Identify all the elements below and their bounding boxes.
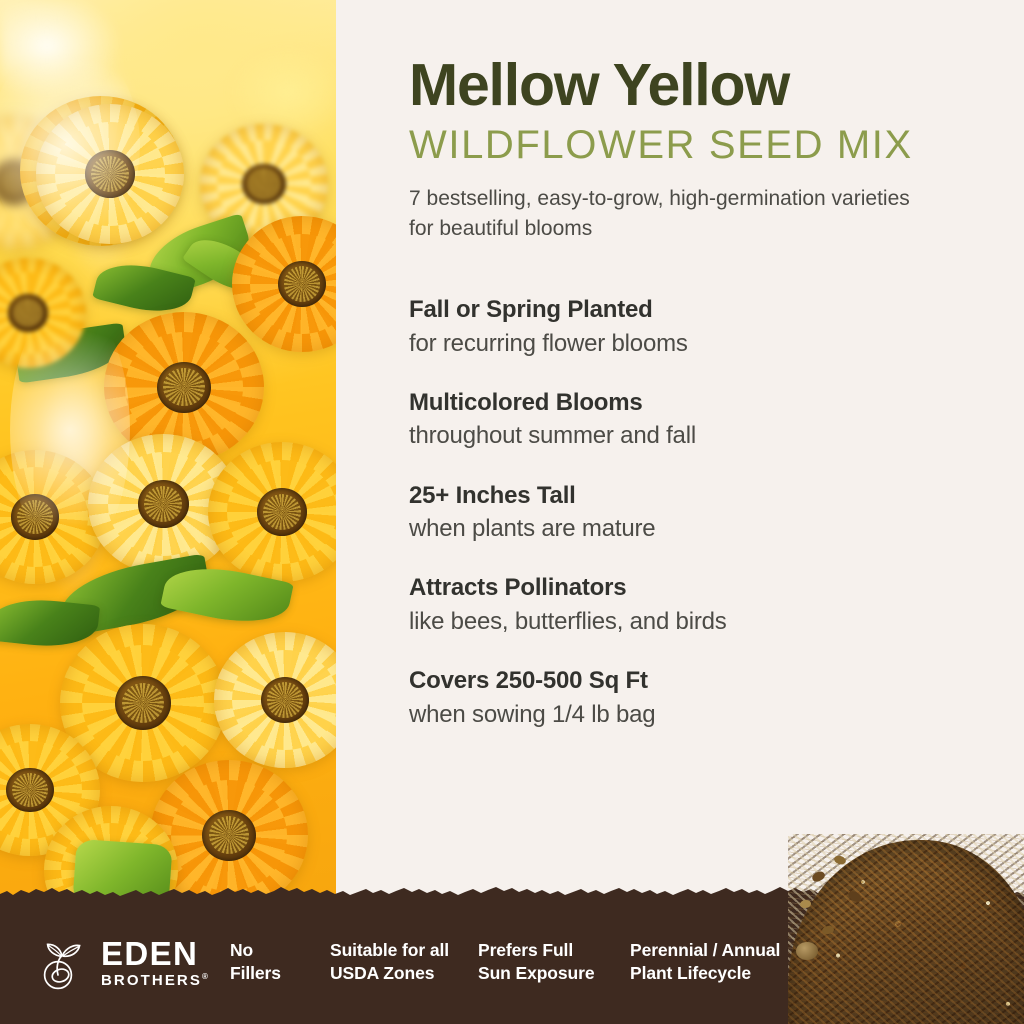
footer-badge-list: No Fillers Suitable for all USDA Zones P… xyxy=(230,939,810,985)
sprout-icon xyxy=(34,933,90,991)
badge-line-2: Sun Exposure xyxy=(478,962,630,985)
list-item: Covers 250-500 Sq Ft when sowing 1/4 lb … xyxy=(409,667,989,730)
list-item: 25+ Inches Tall when plants are mature xyxy=(409,482,989,545)
footer-bar: EDEN BROTHERS® No Fillers Suitable for a… xyxy=(0,900,1024,1024)
feature-subtitle: when sowing 1/4 lb bag xyxy=(409,699,989,730)
brand-subname: BROTHERS® xyxy=(101,973,208,988)
badge-line-1: Suitable for all xyxy=(330,939,478,962)
flower-blossom xyxy=(36,104,184,244)
content-panel: Mellow Yellow WILDFLOWER SEED MIX 7 best… xyxy=(336,0,1024,924)
status-badge: No Fillers xyxy=(230,939,330,985)
list-item: Attracts Pollinators like bees, butterfl… xyxy=(409,574,989,637)
status-badge: Suitable for all USDA Zones xyxy=(330,939,478,985)
brand-wordmark: EDEN BROTHERS® xyxy=(101,937,208,988)
feature-subtitle: for recurring flower blooms xyxy=(409,328,989,359)
badge-line-2: USDA Zones xyxy=(330,962,478,985)
feature-title: Attracts Pollinators xyxy=(409,574,989,602)
yellow-zinnia-flowers-photo xyxy=(0,0,336,924)
footer-content: EDEN BROTHERS® No Fillers Suitable for a… xyxy=(0,900,1024,1024)
eden-brothers-sprout-logo: EDEN BROTHERS® xyxy=(34,933,230,991)
status-badge: Prefers Full Sun Exposure xyxy=(478,939,630,985)
product-infographic: Mellow Yellow WILDFLOWER SEED MIX 7 best… xyxy=(0,0,1024,1024)
list-item: Fall or Spring Planted for recurring flo… xyxy=(409,296,989,359)
feature-subtitle: throughout summer and fall xyxy=(409,420,989,451)
feature-title: 25+ Inches Tall xyxy=(409,482,989,510)
feature-title: Multicolored Blooms xyxy=(409,389,989,417)
feature-title: Fall or Spring Planted xyxy=(409,296,989,324)
product-description: 7 bestselling, easy-to-grow, high-germin… xyxy=(409,184,939,244)
registered-trademark-icon: ® xyxy=(202,972,208,981)
badge-line-2: Plant Lifecycle xyxy=(630,962,810,985)
badge-line-1: Perennial / Annual xyxy=(630,939,810,962)
brand-subname-text: BROTHERS xyxy=(101,972,202,989)
product-subtitle: WILDFLOWER SEED MIX xyxy=(409,124,1009,166)
badge-line-1: No xyxy=(230,939,330,962)
feature-subtitle: like bees, butterflies, and birds xyxy=(409,606,989,637)
page-title: Mellow Yellow xyxy=(409,56,1009,115)
feature-subtitle: when plants are mature xyxy=(409,513,989,544)
badge-line-2: Fillers xyxy=(230,962,330,985)
brand-name: EDEN xyxy=(101,937,208,970)
feature-list: Fall or Spring Planted for recurring flo… xyxy=(409,296,989,730)
headline-block: Mellow Yellow WILDFLOWER SEED MIX 7 best… xyxy=(409,56,1009,244)
list-item: Multicolored Blooms throughout summer an… xyxy=(409,389,989,452)
feature-title: Covers 250-500 Sq Ft xyxy=(409,667,989,695)
badge-line-1: Prefers Full xyxy=(478,939,630,962)
status-badge: Perennial / Annual Plant Lifecycle xyxy=(630,939,810,985)
